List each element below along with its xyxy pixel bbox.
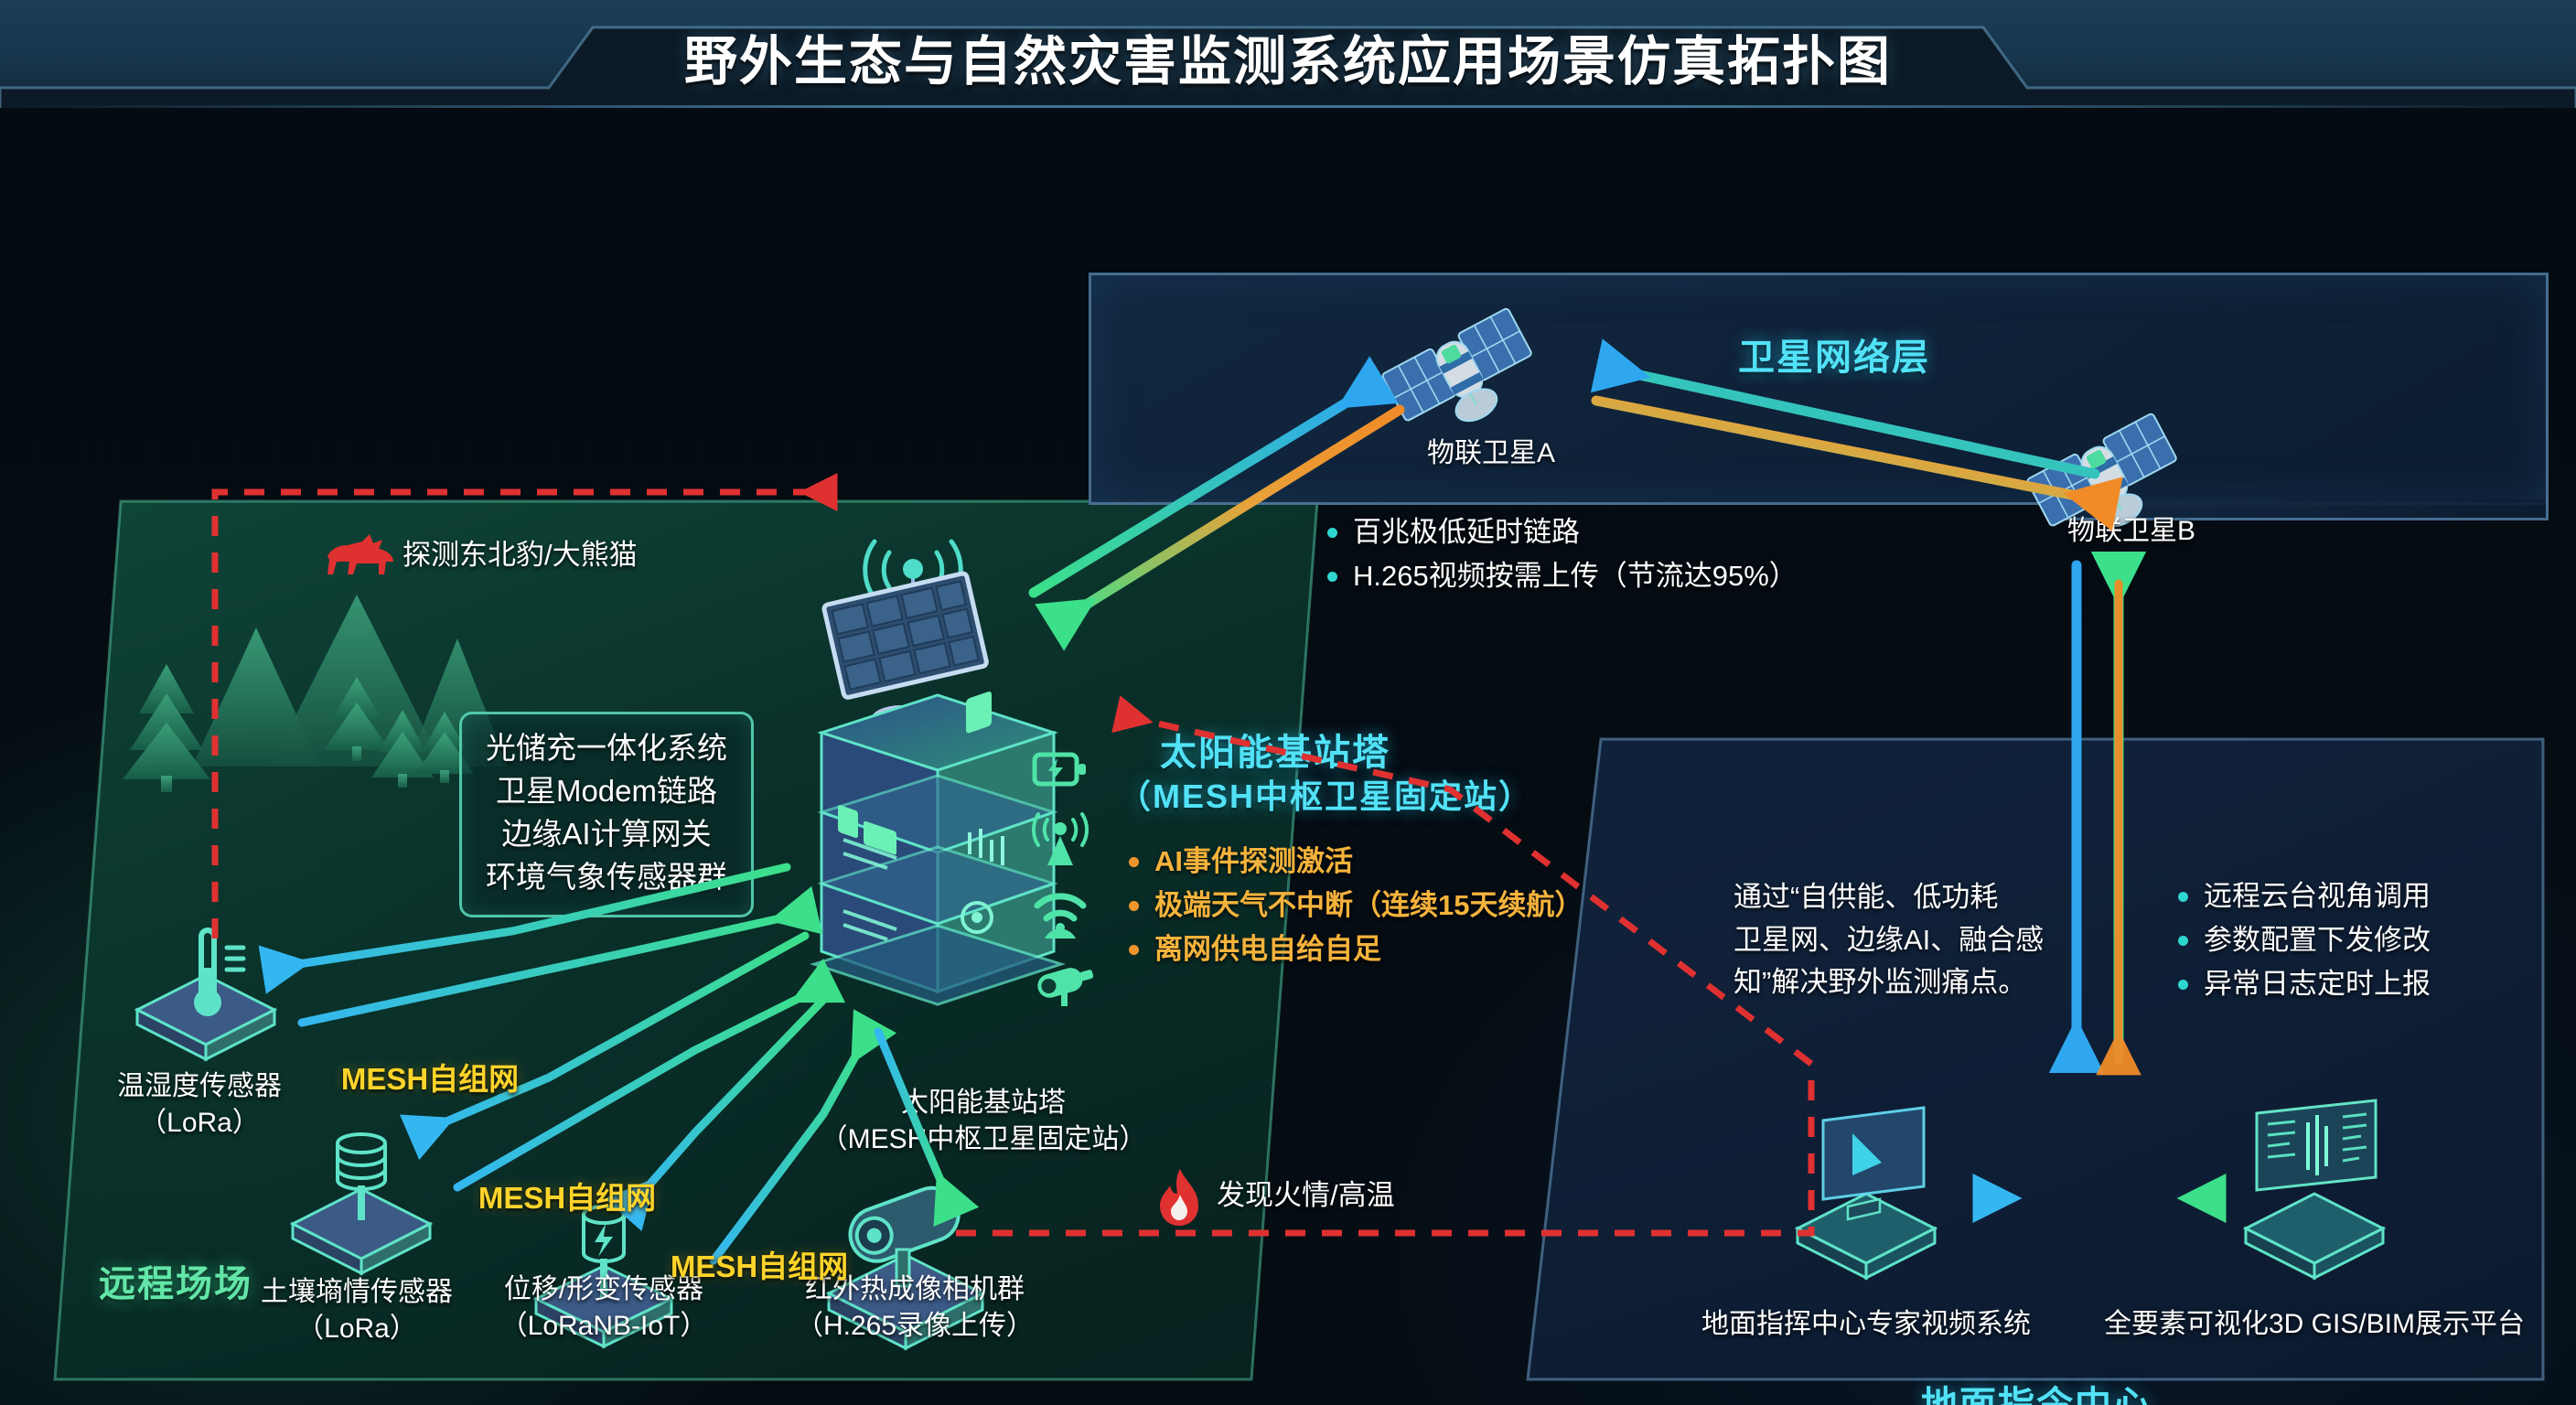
mesh-tag-1: MESH自组网	[478, 1174, 656, 1217]
diagram-canvas: 远程场场 卫星网络层	[0, 108, 2576, 1405]
alert-label-1: 发现火情/高温	[1217, 1172, 1395, 1213]
leopard-icon	[322, 529, 399, 586]
topology-diagram-root: 野外生态与自然灾害监测系统应用场景仿真拓扑图 远程场场 卫星网络层	[0, 0, 2576, 1405]
alert-label-0: 探测东北豹/大熊猫	[402, 531, 638, 573]
title-banner: 野外生态与自然灾害监测系统应用场景仿真拓扑图	[0, 0, 2576, 108]
mesh-tag-0: MESH自组网	[341, 1055, 519, 1099]
flame-icon	[1154, 1167, 1204, 1232]
page-title: 野外生态与自然灾害监测系统应用场景仿真拓扑图	[0, 18, 2576, 95]
mesh-tag-2: MESH自组网	[671, 1242, 848, 1286]
